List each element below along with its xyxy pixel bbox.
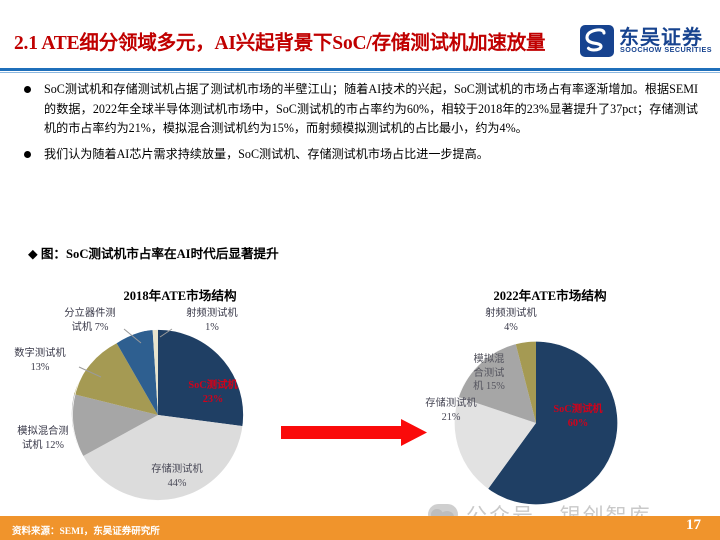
bullet-text: SoC测试机和存储测试机占据了测试机市场的半壁江山；随着AI技术的兴起，SoC测…	[44, 80, 698, 139]
bullet-dot-icon	[24, 86, 31, 93]
list-item: SoC测试机和存储测试机占据了测试机市场的半壁江山；随着AI技术的兴起，SoC测…	[22, 80, 698, 139]
chart-2018-ate-market: 2018年ATE市场结构 SoC测试机 23% 存储测试机 44% 模拟混合测 …	[0, 285, 360, 510]
pie-leader-lines-2018	[0, 285, 360, 510]
figure-caption: ◆ 图：SoC测试机市占率在AI时代后显著提升	[28, 243, 279, 262]
chart-title: 2022年ATE市场结构	[400, 285, 700, 304]
pie-slice-label-soc: SoC测试机 60%	[538, 403, 618, 430]
header-rule-secondary	[0, 72, 720, 73]
bullet-text: 我们认为随着AI芯片需求持续放量，SoC测试机、存储测试机市场占比进一步提高。	[44, 145, 698, 165]
chart-2022-ate-market: 2022年ATE市场结构 SoC测试机 60% 存储测试机 21% 模拟混 合测…	[400, 285, 700, 515]
source-note: 资料来源：SEMI，东吴证券研究所	[12, 523, 160, 537]
pie-slice-label-storage: 存储测试机 21%	[408, 397, 494, 424]
bullet-list: SoC测试机和存储测试机占据了测试机市场的半壁江山；随着AI技术的兴起，SoC测…	[22, 80, 698, 170]
soochow-logo-icon	[580, 25, 614, 57]
list-item: 我们认为随着AI芯片需求持续放量，SoC测试机、存储测试机市场占比进一步提高。	[22, 145, 698, 165]
logo-brand-en: SOOCHOW SECURITIES	[620, 45, 712, 54]
slide-header: 2.1 ATE细分领域多元，AI兴起背景下SoC/存储测试机加速放量 东吴证券 …	[0, 22, 720, 70]
page-number: 17	[686, 517, 701, 534]
pie-slice-label-rf: 射频测试机 4%	[468, 307, 554, 334]
brand-logo: 东吴证券 SOOCHOW SECURITIES	[580, 22, 712, 64]
slide-canvas: 2.1 ATE细分领域多元，AI兴起背景下SoC/存储测试机加速放量 东吴证券 …	[0, 0, 720, 540]
page-title: 2.1 ATE细分领域多元，AI兴起背景下SoC/存储测试机加速放量	[14, 26, 574, 55]
pie-slice-label-analog: 模拟混 合测试 机 15%	[462, 353, 516, 394]
bullet-dot-icon	[24, 151, 31, 158]
